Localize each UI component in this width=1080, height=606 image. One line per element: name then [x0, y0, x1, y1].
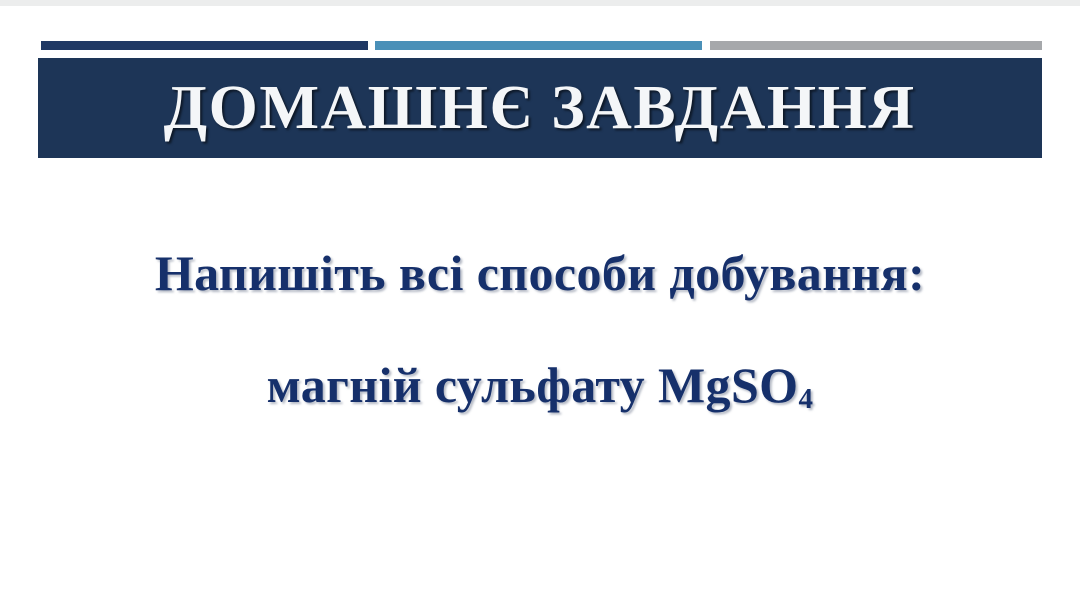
slide-title: ДОМАШНЄ ЗАВДАННЯ: [164, 77, 916, 139]
formula-base: MgSO: [658, 357, 799, 413]
assignment-subject-line: магній сульфату MgSO4: [0, 360, 1080, 410]
top-edge-strip: [0, 0, 1080, 6]
rule-bar-blue: [375, 41, 702, 50]
slide-body: Напишіть всі способи добування: магній с…: [0, 248, 1080, 410]
decorative-rule-bars: [0, 41, 1080, 50]
slide-canvas: ДОМАШНЄ ЗАВДАННЯ Напишіть всі способи до…: [0, 0, 1080, 606]
subject-label: магній сульфату: [267, 357, 658, 413]
rule-bar-navy: [41, 41, 368, 50]
formula-subscript: 4: [798, 383, 813, 415]
rule-bar-gray: [710, 41, 1042, 50]
assignment-prompt-line: Напишіть всі способи добування:: [0, 248, 1080, 298]
chemical-formula: MgSO4: [658, 357, 813, 413]
title-banner: ДОМАШНЄ ЗАВДАННЯ: [38, 58, 1042, 158]
